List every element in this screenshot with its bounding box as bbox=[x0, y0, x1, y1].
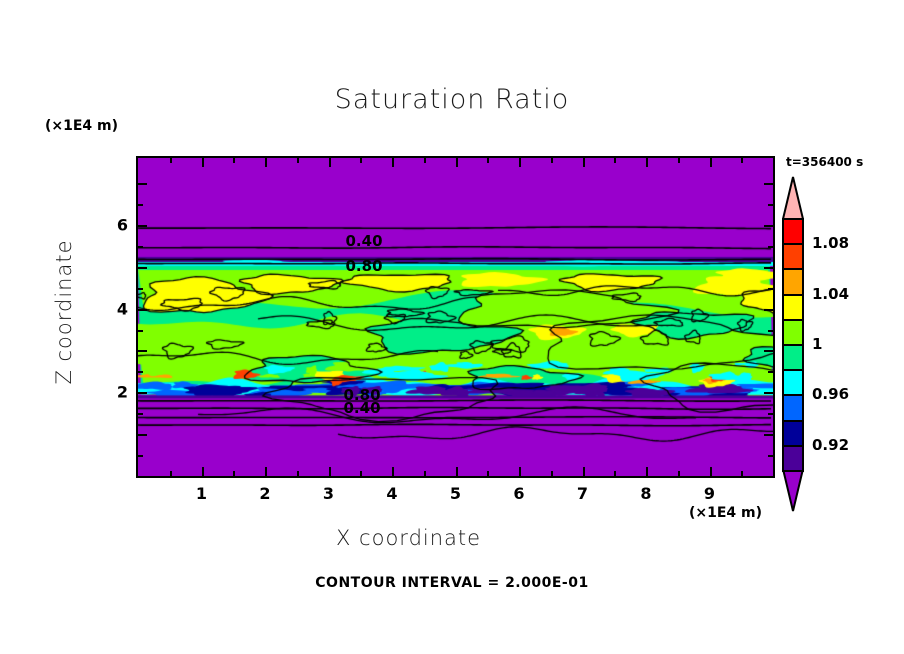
x-tick-mark bbox=[741, 471, 743, 476]
contour-field-canvas bbox=[138, 158, 773, 476]
colorbar-separator bbox=[782, 294, 804, 296]
x-tick-mark bbox=[519, 158, 521, 167]
x-tick-label: 7 bbox=[577, 484, 588, 503]
x-tick-mark bbox=[424, 158, 426, 163]
y-tick-mark bbox=[764, 350, 773, 352]
colorbar-tick-label: 1.08 bbox=[812, 234, 849, 252]
colorbar-band bbox=[782, 294, 804, 319]
y-tick-mark bbox=[768, 455, 773, 457]
x-tick-label: 6 bbox=[513, 484, 524, 503]
x-tick-mark bbox=[233, 158, 235, 163]
y-tick-mark bbox=[138, 225, 147, 227]
contour-label: 0.40 bbox=[345, 232, 382, 250]
page-title: Saturation Ratio bbox=[0, 84, 904, 115]
x-tick-label: 4 bbox=[386, 484, 397, 503]
y-tick-mark bbox=[138, 350, 147, 352]
x-tick-mark bbox=[519, 467, 521, 476]
colorbar-separator bbox=[782, 268, 804, 270]
colorbar-band bbox=[782, 445, 804, 470]
colorbar-separator bbox=[782, 344, 804, 346]
colorbar-band bbox=[782, 369, 804, 394]
y-tick-mark bbox=[764, 183, 773, 185]
y-tick-mark bbox=[138, 434, 147, 436]
colorbar-band bbox=[782, 344, 804, 369]
x-tick-mark bbox=[265, 158, 267, 167]
y-tick-mark bbox=[764, 267, 773, 269]
x-tick-mark bbox=[297, 158, 299, 163]
y-tick-mark bbox=[138, 392, 147, 394]
x-tick-mark bbox=[424, 471, 426, 476]
colorbar-separator bbox=[782, 470, 804, 472]
x-tick-mark bbox=[360, 158, 362, 163]
colorbar-separator bbox=[782, 420, 804, 422]
y-axis-title: Z coordinate bbox=[52, 222, 76, 402]
x-tick-mark bbox=[551, 471, 553, 476]
x-tick-mark bbox=[678, 471, 680, 476]
colorbar-band bbox=[782, 394, 804, 419]
colorbar-band bbox=[782, 420, 804, 445]
y-tick-mark bbox=[764, 225, 773, 227]
x-tick-label: 5 bbox=[450, 484, 461, 503]
colorbar-tick-label: 1.04 bbox=[812, 285, 849, 303]
x-tick-mark bbox=[456, 158, 458, 167]
y-tick-mark bbox=[764, 392, 773, 394]
y-tick-mark bbox=[138, 288, 143, 290]
y-tick-mark bbox=[138, 330, 143, 332]
colorbar-separator bbox=[782, 243, 804, 245]
y-tick-label: 2 bbox=[110, 383, 128, 402]
y-tick-mark bbox=[138, 413, 143, 415]
colorbar-band bbox=[782, 243, 804, 268]
colorbar-tick-label: 0.96 bbox=[812, 385, 849, 403]
x-tick-mark bbox=[583, 158, 585, 167]
colorbar-separator bbox=[782, 218, 804, 220]
y-tick-mark bbox=[138, 183, 147, 185]
x-axis-title: X coordinate bbox=[336, 526, 481, 550]
x-tick-mark bbox=[614, 158, 616, 163]
y-tick-mark bbox=[138, 246, 143, 248]
x-tick-mark bbox=[202, 467, 204, 476]
y-tick-mark bbox=[768, 371, 773, 373]
x-tick-mark bbox=[265, 467, 267, 476]
y-tick-mark bbox=[138, 267, 147, 269]
x-tick-mark bbox=[551, 158, 553, 163]
colorbar-separator bbox=[782, 394, 804, 396]
x-tick-mark bbox=[646, 158, 648, 167]
y-tick-mark bbox=[768, 330, 773, 332]
x-tick-mark bbox=[329, 158, 331, 167]
x-tick-mark bbox=[392, 158, 394, 167]
x-tick-mark bbox=[583, 467, 585, 476]
x-tick-label: 8 bbox=[640, 484, 651, 503]
x-tick-mark bbox=[614, 471, 616, 476]
colorbar-separator bbox=[782, 445, 804, 447]
color-scale-bar[interactable]: 1.081.0410.960.92 bbox=[782, 218, 804, 470]
contour-plot-area[interactable] bbox=[136, 156, 775, 478]
colorbar-top-arrow-icon bbox=[782, 176, 804, 220]
x-tick-label: 9 bbox=[704, 484, 715, 503]
y-tick-mark bbox=[764, 434, 773, 436]
x-tick-mark bbox=[170, 471, 172, 476]
y-tick-mark bbox=[138, 309, 147, 311]
x-tick-mark bbox=[329, 467, 331, 476]
x-tick-mark bbox=[741, 158, 743, 163]
contour-label: 0.80 bbox=[345, 257, 382, 275]
y-tick-mark bbox=[764, 309, 773, 311]
x-tick-mark bbox=[170, 158, 172, 163]
y-tick-mark bbox=[768, 204, 773, 206]
y-tick-mark bbox=[768, 246, 773, 248]
y-tick-mark bbox=[138, 204, 143, 206]
colorbar-band bbox=[782, 319, 804, 344]
y-tick-mark bbox=[138, 371, 143, 373]
x-tick-mark bbox=[710, 158, 712, 167]
colorbar-bottom-arrow-icon bbox=[782, 468, 804, 512]
time-stamp-label: t=356400 s bbox=[786, 155, 863, 169]
x-tick-label: 1 bbox=[196, 484, 207, 503]
colorbar-tick-label: 0.92 bbox=[812, 436, 849, 454]
colorbar-band bbox=[782, 268, 804, 293]
x-tick-mark bbox=[233, 471, 235, 476]
x-tick-label: 3 bbox=[323, 484, 334, 503]
y-tick-mark bbox=[768, 288, 773, 290]
y-tick-mark bbox=[138, 455, 143, 457]
x-tick-mark bbox=[297, 471, 299, 476]
colorbar-separator bbox=[782, 319, 804, 321]
x-tick-label: 2 bbox=[259, 484, 270, 503]
x-tick-mark bbox=[487, 471, 489, 476]
y-tick-mark bbox=[768, 413, 773, 415]
x-tick-mark bbox=[202, 158, 204, 167]
x-tick-mark bbox=[392, 467, 394, 476]
y-axis-unit-label: (×1E4 m) bbox=[45, 118, 118, 134]
x-tick-mark bbox=[487, 158, 489, 163]
x-axis-unit-label: (×1E4 m) bbox=[689, 505, 762, 521]
colorbar-band bbox=[782, 218, 804, 243]
y-tick-label: 6 bbox=[110, 215, 128, 234]
x-tick-mark bbox=[360, 471, 362, 476]
contour-label: 0.40 bbox=[343, 399, 380, 417]
x-tick-mark bbox=[646, 467, 648, 476]
colorbar-tick-label: 1 bbox=[812, 335, 822, 353]
x-tick-mark bbox=[456, 467, 458, 476]
x-tick-mark bbox=[678, 158, 680, 163]
contour-interval-caption: CONTOUR INTERVAL = 2.000E-01 bbox=[0, 575, 904, 591]
y-tick-label: 4 bbox=[110, 299, 128, 318]
x-tick-mark bbox=[710, 467, 712, 476]
colorbar-separator bbox=[782, 369, 804, 371]
